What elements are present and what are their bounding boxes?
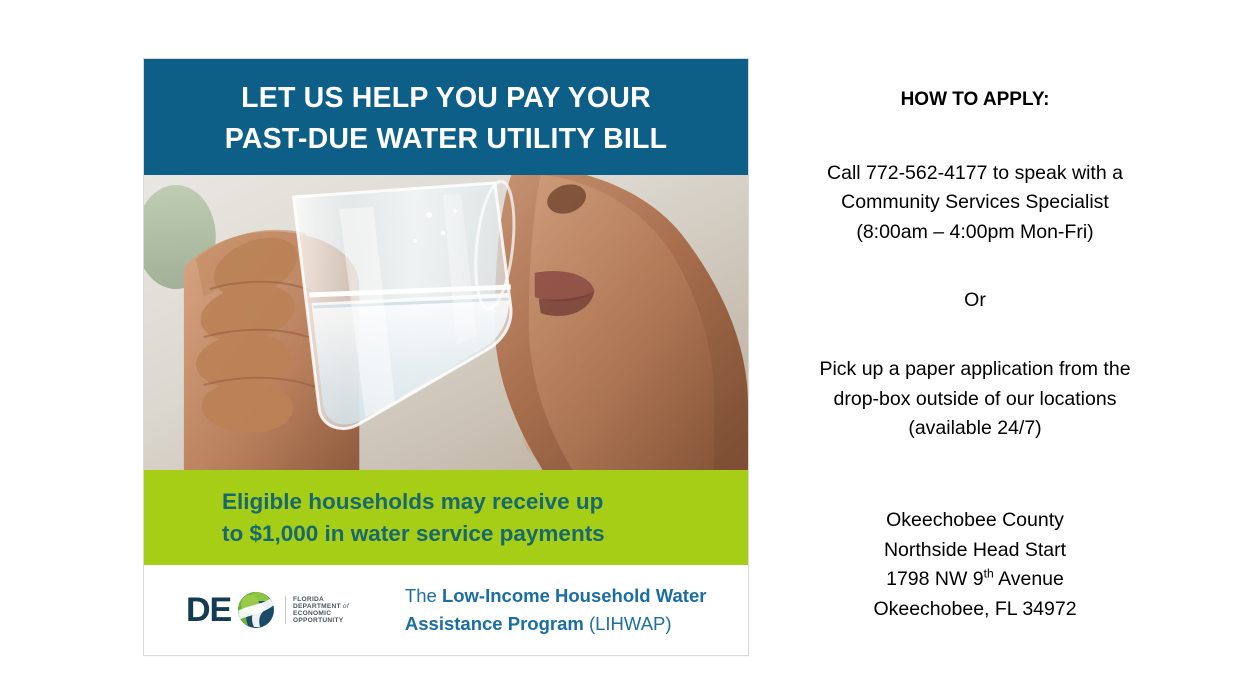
dropbox-line3: (available 24/7)	[795, 414, 1155, 444]
flyer-header-banner: LET US HELP YOU PAY YOUR PAST-DUE WATER …	[144, 59, 748, 175]
flyer-footer: DE FLORIDA DEPARTMENT of ECONOMIC OPPORT…	[144, 565, 748, 655]
spacer	[795, 444, 1155, 506]
address-city-state-zip: Okeechobee, FL 34972	[795, 595, 1155, 625]
flyer-headline-line1: LET US HELP YOU PAY YOUR	[241, 78, 651, 119]
location-address: Okeechobee County Northside Head Start 1…	[795, 506, 1155, 625]
deo-tagline: FLORIDA DEPARTMENT of ECONOMIC OPPORTUNI…	[285, 596, 349, 624]
lihwap-flyer: LET US HELP YOU PAY YOUR PAST-DUE WATER …	[143, 58, 749, 656]
phone-number[interactable]: 772-562-4177	[866, 162, 987, 184]
or-separator: Or	[795, 286, 1155, 316]
deo-tagline-florida: FLORIDA	[293, 596, 349, 603]
spacer	[795, 315, 1155, 355]
how-to-apply-panel: HOW TO APPLY: Call 772-562-4177 to speak…	[795, 88, 1155, 625]
how-to-apply-heading: HOW TO APPLY:	[795, 88, 1155, 113]
eligibility-line2: to $1,000 in water service payments	[222, 518, 605, 550]
deo-globe-icon: DE	[186, 591, 278, 629]
program-name-line1: The Low-Income Household Water	[405, 582, 707, 610]
address-street: 1798 NW 9th Avenue	[795, 565, 1155, 595]
flyer-headline-line2: PAST-DUE WATER UTILITY BILL	[225, 119, 667, 160]
water-glass-photo	[144, 175, 748, 470]
call-line: Call 772-562-4177 to speak with a	[795, 159, 1155, 189]
call-line-hours: (8:00am – 4:00pm Mon-Fri)	[795, 218, 1155, 248]
water-glass-illustration	[144, 175, 748, 470]
dropbox-line2: drop-box outside of our locations	[795, 385, 1155, 415]
program-name: The Low-Income Household Water Assistanc…	[405, 582, 707, 638]
call-instructions: Call 772-562-4177 to speak with a Commun…	[795, 159, 1155, 248]
eligibility-line1: Eligible households may receive up	[222, 486, 603, 518]
program-name-line2: Assistance Program (LIHWAP)	[405, 610, 707, 638]
svg-text:DE: DE	[186, 591, 232, 629]
address-site: Northside Head Start	[795, 536, 1155, 566]
spacer	[795, 248, 1155, 286]
deo-tagline-department: DEPARTMENT of	[293, 603, 349, 610]
address-county: Okeechobee County	[795, 506, 1155, 536]
deo-logo: DE FLORIDA DEPARTMENT of ECONOMIC OPPORT…	[186, 591, 349, 629]
call-line-specialist: Community Services Specialist	[795, 188, 1155, 218]
deo-tagline-opportunity: OPPORTUNITY	[293, 617, 349, 624]
dropbox-line1: Pick up a paper application from the	[795, 355, 1155, 385]
deo-tagline-economic: ECONOMIC	[293, 610, 349, 617]
eligibility-banner: Eligible households may receive up to $1…	[144, 470, 748, 565]
dropbox-instructions: Pick up a paper application from the dro…	[795, 355, 1155, 444]
